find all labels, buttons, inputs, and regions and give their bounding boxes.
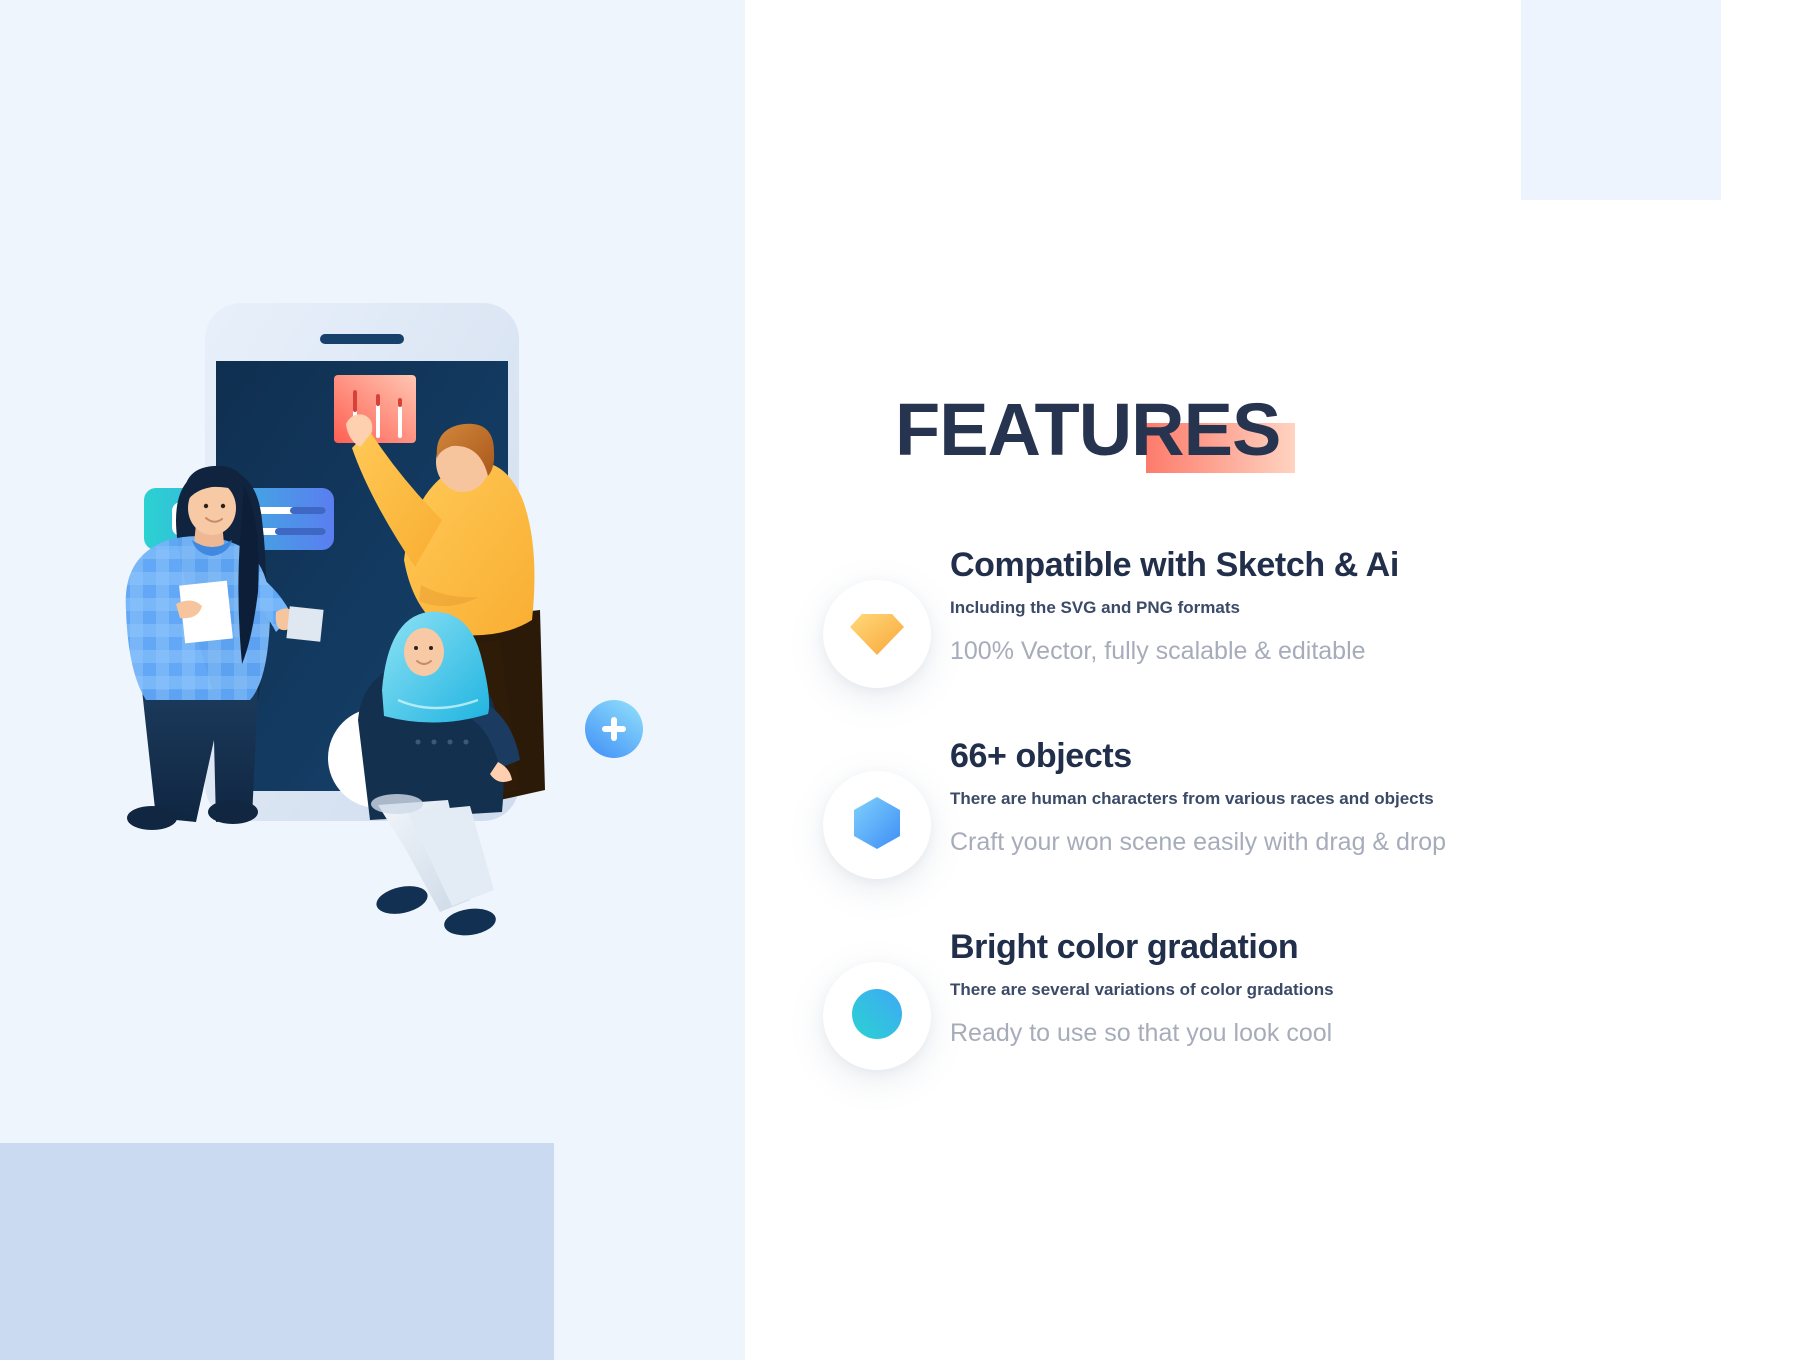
feature-tagline: Craft your won scene easily with drag & … xyxy=(950,827,1790,857)
features-content: FEATURES xyxy=(745,0,1800,1360)
feature-subtitle: There are several variations of color gr… xyxy=(950,979,1790,1001)
feature-subtitle: There are human characters from various … xyxy=(950,788,1790,810)
team-collaboration-illustration xyxy=(0,0,745,1360)
features-list: Compatible with Sketch & Ai Including th… xyxy=(775,545,1795,1118)
red-gradient-slider-card xyxy=(334,375,416,443)
feature-tagline: Ready to use so that you look cool xyxy=(950,1018,1790,1048)
feature-subtitle: Including the SVG and PNG formats xyxy=(950,597,1790,619)
icon-circle-badge xyxy=(823,962,931,1070)
plus-button xyxy=(585,700,643,758)
icon-circle-badge xyxy=(823,580,931,688)
feature-body: Bright color gradation There are several… xyxy=(950,927,1790,1048)
page-title: FEATURES xyxy=(895,385,1280,475)
feature-icon-wrapper xyxy=(775,545,975,735)
features-page: FEATURES xyxy=(0,0,1800,1360)
feature-item-gradation[interactable]: Bright color gradation There are several… xyxy=(775,927,1795,1118)
feature-body: Compatible with Sketch & Ai Including th… xyxy=(950,545,1790,666)
hexagon-icon xyxy=(854,797,900,854)
feature-icon-wrapper xyxy=(775,927,975,1117)
circle-dot-icon xyxy=(852,989,902,1044)
feature-tagline: 100% Vector, fully scalable & editable xyxy=(950,636,1790,666)
feature-title: Bright color gradation xyxy=(950,927,1790,967)
feature-icon-wrapper xyxy=(775,736,975,926)
feature-item-sketch[interactable]: Compatible with Sketch & Ai Including th… xyxy=(775,545,1795,736)
feature-title: 66+ objects xyxy=(950,736,1790,776)
feature-item-objects[interactable]: 66+ objects There are human characters f… xyxy=(775,736,1795,927)
feature-title: Compatible with Sketch & Ai xyxy=(950,545,1790,585)
icon-circle-badge xyxy=(823,771,931,879)
page-title-wrapper: FEATURES xyxy=(895,385,1280,475)
feature-body: 66+ objects There are human characters f… xyxy=(950,736,1790,857)
diamond-icon xyxy=(850,608,904,661)
